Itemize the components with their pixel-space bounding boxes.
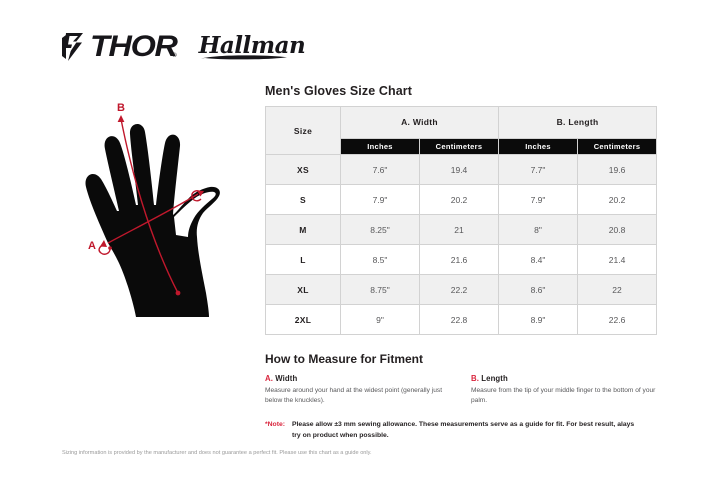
thor-hammer-bolt-icon xyxy=(62,32,88,62)
how-to-width-block: A. Width Measure around your hand at the… xyxy=(265,374,451,406)
cell-width-inches: 7.9" xyxy=(341,185,420,215)
cell-length-centimeters: 20.8 xyxy=(578,215,657,245)
hallman-wordmark: Hallman xyxy=(199,34,306,57)
note-block: *Note: Please allow ±3 mm sewing allowan… xyxy=(265,420,657,442)
table-row: M 8.25" 21 8" 20.8 xyxy=(266,215,657,245)
cell-size: M xyxy=(266,215,341,245)
size-chart-page: THOR ® Hallman xyxy=(0,0,720,492)
footer-disclaimer: Sizing information is provided by the ma… xyxy=(62,449,392,459)
how-to-width-marker: A. xyxy=(265,374,273,383)
note-text: Please allow ±3 mm sewing allowance. The… xyxy=(292,420,644,442)
chart-content: Men's Gloves Size Chart Size A. Width B.… xyxy=(265,84,657,442)
hand-silhouette-icon xyxy=(70,95,270,320)
column-header-length-group: B. Length xyxy=(499,107,657,139)
cell-width-centimeters: 22.2 xyxy=(420,275,499,305)
table-row: L 8.5" 21.6 8.4" 21.4 xyxy=(266,245,657,275)
column-header-width-inches: Inches xyxy=(341,138,420,154)
cell-length-centimeters: 22.6 xyxy=(578,305,657,335)
how-to-length-heading: B. Length xyxy=(471,374,657,383)
table-body: XS 7.6" 19.4 7.7" 19.6 S 7.9" 20.2 7.9" … xyxy=(266,155,657,335)
how-to-width-heading: A. Width xyxy=(265,374,451,383)
cell-width-inches: 8.75" xyxy=(341,275,420,305)
cell-length-inches: 8.4" xyxy=(499,245,578,275)
cell-size: 2XL xyxy=(266,305,341,335)
cell-width-centimeters: 19.4 xyxy=(420,155,499,185)
how-to-length-heading-text: Length xyxy=(479,374,508,383)
cell-width-centimeters: 22.8 xyxy=(420,305,499,335)
column-header-width-centimeters: Centimeters xyxy=(420,138,499,154)
cell-width-centimeters: 21 xyxy=(420,215,499,245)
thor-wordmark: THOR xyxy=(90,32,177,62)
note-label: *Note: xyxy=(265,420,285,428)
cell-size: XS xyxy=(266,155,341,185)
cell-length-centimeters: 21.4 xyxy=(578,245,657,275)
column-header-size: Size xyxy=(266,107,341,155)
how-to-measure-section: How to Measure for Fitment A. Width Meas… xyxy=(265,352,657,442)
page-title: Men's Gloves Size Chart xyxy=(265,84,657,98)
table-header-row-groups: Size A. Width B. Length xyxy=(266,107,657,139)
how-to-length-body: Measure from the tip of your middle fing… xyxy=(471,386,657,406)
how-to-width-body: Measure around your hand at the widest p… xyxy=(265,386,451,406)
how-to-length-marker: B. xyxy=(471,374,479,383)
cell-length-centimeters: 19.6 xyxy=(578,155,657,185)
brand-logo-row: THOR ® Hallman xyxy=(62,32,305,62)
hallman-logo: Hallman xyxy=(193,34,306,61)
cell-width-inches: 7.6" xyxy=(341,155,420,185)
cell-length-inches: 8.6" xyxy=(499,275,578,305)
cell-width-inches: 9" xyxy=(341,305,420,335)
cell-length-inches: 7.9" xyxy=(499,185,578,215)
cell-length-inches: 7.7" xyxy=(499,155,578,185)
column-header-length-inches: Inches xyxy=(499,138,578,154)
table-row: XL 8.75" 22.2 8.6" 22 xyxy=(266,275,657,305)
size-chart-table: Size A. Width B. Length Inches Centimete… xyxy=(265,106,657,335)
cell-width-centimeters: 21.6 xyxy=(420,245,499,275)
how-to-measure-title: How to Measure for Fitment xyxy=(265,352,657,366)
diagram-length-label: B xyxy=(117,103,125,114)
table-row: 2XL 9" 22.8 8.9" 22.6 xyxy=(266,305,657,335)
cell-length-inches: 8" xyxy=(499,215,578,245)
cell-width-centimeters: 20.2 xyxy=(420,185,499,215)
column-header-width-group: A. Width xyxy=(341,107,499,139)
table-row: XS 7.6" 19.4 7.7" 19.6 xyxy=(266,155,657,185)
column-header-length-centimeters: Centimeters xyxy=(578,138,657,154)
thor-logo: THOR ® xyxy=(62,32,177,62)
how-to-measure-columns: A. Width Measure around your hand at the… xyxy=(265,374,657,406)
how-to-length-block: B. Length Measure from the tip of your m… xyxy=(471,374,657,406)
cell-length-centimeters: 22 xyxy=(578,275,657,305)
cell-length-inches: 8.9" xyxy=(499,305,578,335)
how-to-width-heading-text: Width xyxy=(273,374,297,383)
cell-size: XL xyxy=(266,275,341,305)
diagram-width-label: A xyxy=(88,241,96,252)
cell-size: S xyxy=(266,185,341,215)
hand-measurement-diagram: B A xyxy=(70,95,270,320)
cell-width-inches: 8.5" xyxy=(341,245,420,275)
cell-width-inches: 8.25" xyxy=(341,215,420,245)
table-row: S 7.9" 20.2 7.9" 20.2 xyxy=(266,185,657,215)
cell-length-centimeters: 20.2 xyxy=(578,185,657,215)
cell-size: L xyxy=(266,245,341,275)
table-head: Size A. Width B. Length Inches Centimete… xyxy=(266,107,657,155)
